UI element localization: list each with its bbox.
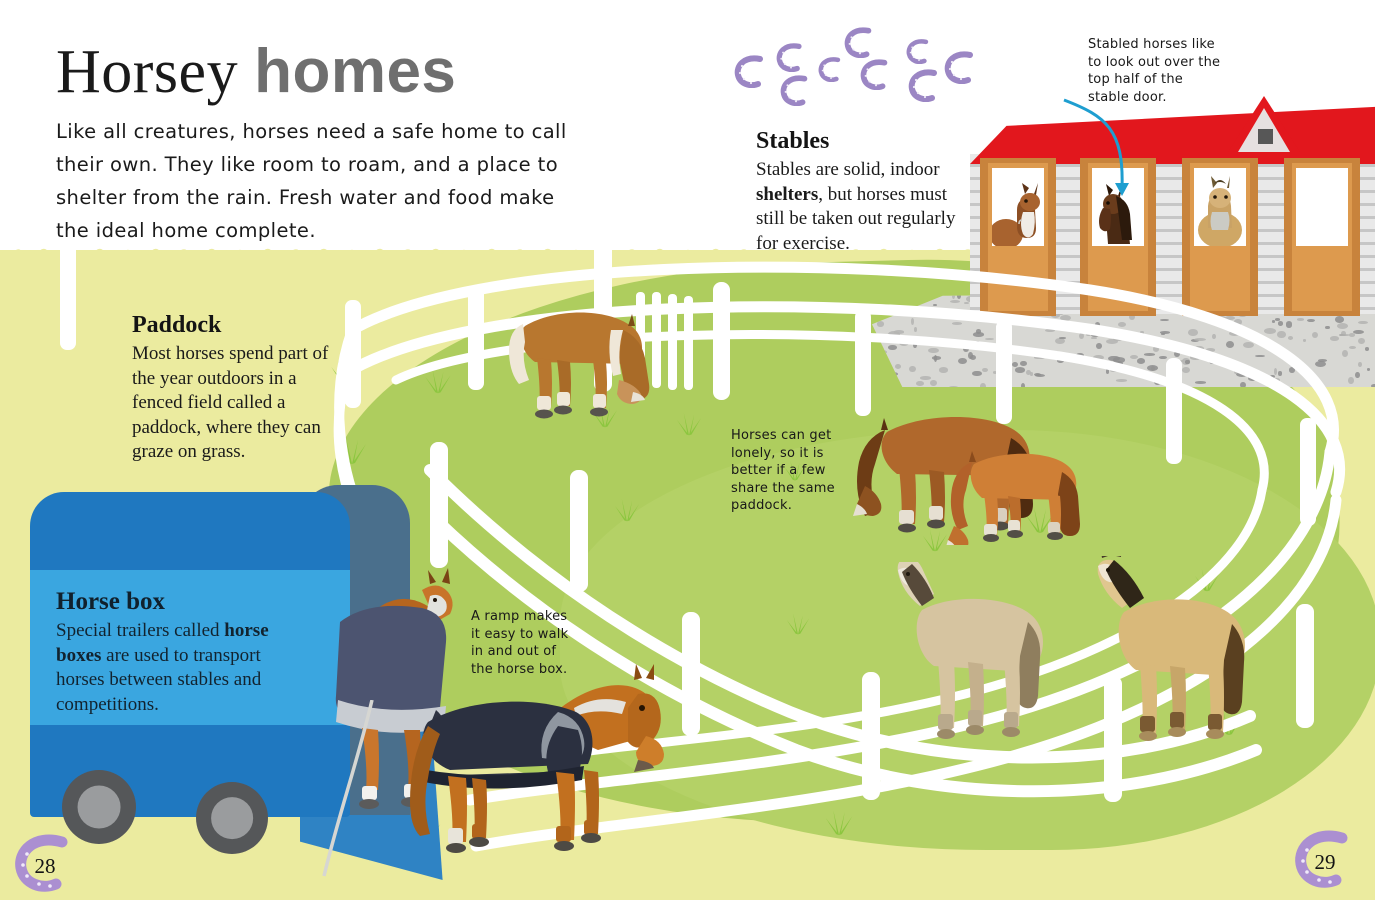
intro-paragraph: Like all creatures, horses need a safe h… bbox=[56, 115, 576, 247]
paddock-section: Paddock Most horses spend part of the ye… bbox=[132, 312, 332, 465]
horseshoe-icon bbox=[844, 26, 876, 58]
horse-box-body: Special trailers called horse boxes are … bbox=[56, 619, 306, 717]
lead-rope bbox=[318, 700, 388, 880]
grass-tuft-icon bbox=[672, 404, 706, 436]
stables-section: Stables Stables are solid, indoor shelte… bbox=[756, 128, 971, 256]
horseshoe-icon bbox=[860, 58, 892, 90]
horseshoe-icon bbox=[818, 56, 844, 82]
horseshoe-icon bbox=[908, 68, 942, 102]
horseshoe-icon bbox=[944, 50, 978, 84]
paddock-heading: Paddock bbox=[132, 312, 332, 339]
page-title-part2: homes bbox=[254, 37, 456, 106]
stables-body: Stables are solid, indoor shelters, but … bbox=[756, 158, 971, 256]
horseshoe-icon bbox=[906, 38, 932, 64]
paddock-body: Most horses spend part of the year outdo… bbox=[132, 342, 332, 465]
horse-dun-pony-right bbox=[1062, 556, 1262, 756]
grass-tuft-icon bbox=[782, 604, 814, 636]
stable-stall bbox=[980, 158, 1056, 316]
horseshoe-icon bbox=[734, 54, 768, 88]
horse-box-section: Horse box Special trailers called horse … bbox=[56, 588, 306, 717]
grass-tuft-icon bbox=[332, 428, 372, 464]
page-title-part1: Horsey bbox=[56, 38, 254, 106]
horseshoe-icon bbox=[776, 42, 806, 72]
stall-opening bbox=[992, 168, 1044, 246]
stable-gable-window bbox=[1258, 129, 1273, 144]
annotation-lonely: Horses can get lonely, so it is better i… bbox=[731, 427, 836, 515]
horse-wearing-rug bbox=[398, 650, 698, 900]
stables-heading: Stables bbox=[756, 128, 971, 155]
horse-in-stall-icon bbox=[992, 168, 1044, 246]
page-number-right: 29 bbox=[1292, 828, 1358, 890]
horse-box-heading: Horse box bbox=[56, 588, 306, 616]
horseshoe-decoration-cluster bbox=[728, 24, 988, 110]
horseshoe-icon bbox=[780, 74, 812, 106]
page-title: Horsey homes bbox=[56, 36, 456, 108]
page-number-left: 28 bbox=[12, 832, 78, 894]
page-number-right-text: 29 bbox=[1292, 828, 1358, 890]
annotation-ramp: A ramp makes it easy to walk in and out … bbox=[471, 608, 571, 678]
grass-tuft-icon bbox=[820, 800, 858, 836]
stable-stall bbox=[1284, 158, 1360, 316]
stall-opening bbox=[1296, 168, 1348, 246]
annotation-stable-door: Stabled horses like to look out over the… bbox=[1088, 36, 1228, 106]
trailer-wheel bbox=[196, 782, 268, 854]
horse-foal bbox=[940, 440, 1085, 545]
horse-dun-pony-left bbox=[868, 562, 1058, 757]
horse-grazing-palomino bbox=[495, 300, 670, 420]
book-spread: Horsey homes Like all creatures, horses … bbox=[0, 0, 1375, 900]
grass-tuft-icon bbox=[420, 360, 456, 394]
grass-tuft-icon bbox=[610, 490, 644, 522]
curved-arrow-icon bbox=[1060, 96, 1210, 226]
page-number-left-text: 28 bbox=[12, 832, 78, 894]
